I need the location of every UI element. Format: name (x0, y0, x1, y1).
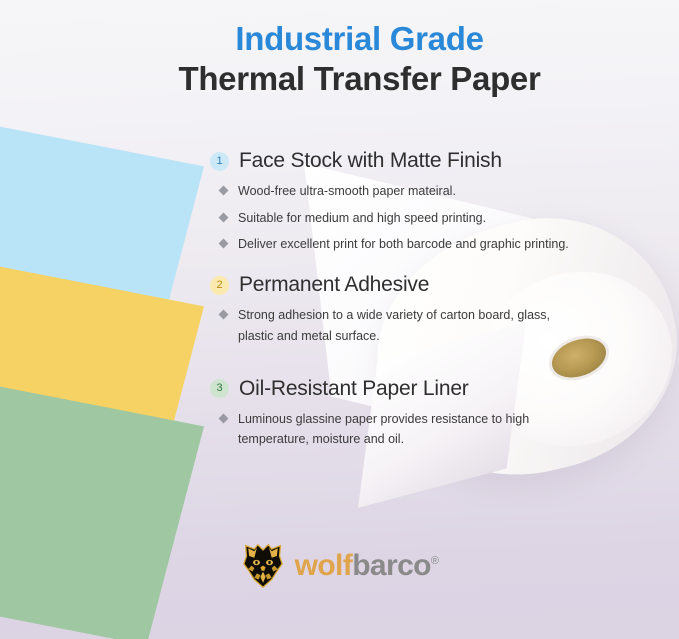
feature-section-1-head: 1 Face Stock with Matte Finish (210, 148, 610, 174)
headline-line-1: Industrial Grade (40, 20, 679, 59)
feature-bullets-1: Wood-free ultra-smooth paper mateiral. S… (210, 181, 610, 254)
feature-section-1: 1 Face Stock with Matte Finish Wood-free… (210, 148, 610, 254)
registered-trademark-symbol: ® (431, 555, 439, 567)
diamond-bullet-icon (219, 310, 229, 320)
brand-name-part-2: barco (352, 549, 431, 582)
bullet-text: Strong adhesion to a wide variety of car… (238, 305, 573, 346)
bullet-text: Luminous glassine paper provides resista… (238, 409, 573, 450)
feature-bullets-2: Strong adhesion to a wide variety of car… (210, 305, 610, 346)
list-item: Suitable for medium and high speed print… (210, 208, 610, 228)
list-item: Wood-free ultra-smooth paper mateiral. (210, 181, 610, 201)
list-item: Deliver excellent print for both barcode… (210, 234, 610, 254)
list-item: Strong adhesion to a wide variety of car… (210, 305, 610, 346)
diamond-bullet-icon (219, 238, 229, 248)
brand-wordmark: wolfbarco® (295, 551, 439, 581)
product-infographic: Industrial Grade Thermal Transfer Paper … (0, 0, 679, 639)
feature-section-3-head: 3 Oil-Resistant Paper Liner (210, 376, 610, 402)
feature-bullets-3: Luminous glassine paper provides resista… (210, 409, 610, 450)
wolf-head-icon (241, 543, 285, 589)
brand-name-part-1: wolf (295, 549, 353, 582)
feature-section-2: 2 Permanent Adhesive Strong adhesion to … (210, 272, 610, 346)
feature-number-badge-1: 1 (210, 152, 229, 171)
feature-title-2: Permanent Adhesive (239, 272, 429, 298)
feature-section-2-head: 2 Permanent Adhesive (210, 272, 610, 298)
feature-sections: 1 Face Stock with Matte Finish Wood-free… (210, 148, 610, 460)
feature-title-1: Face Stock with Matte Finish (239, 148, 502, 174)
feature-number-badge-3: 3 (210, 379, 229, 398)
diamond-bullet-icon (219, 186, 229, 196)
diamond-bullet-icon (219, 212, 229, 222)
diamond-bullet-icon (219, 414, 229, 424)
bullet-text: Wood-free ultra-smooth paper mateiral. (238, 181, 456, 201)
bullet-text: Suitable for medium and high speed print… (238, 208, 486, 228)
page-title: Industrial Grade Thermal Transfer Paper (0, 20, 679, 99)
feature-title-3: Oil-Resistant Paper Liner (239, 376, 469, 402)
feature-number-badge-2: 2 (210, 276, 229, 295)
brand-logo: wolfbarco® (0, 543, 679, 589)
headline-line-2: Thermal Transfer Paper (40, 59, 679, 99)
feature-section-3: 3 Oil-Resistant Paper Liner Luminous gla… (210, 376, 610, 450)
list-item: Luminous glassine paper provides resista… (210, 409, 610, 450)
bullet-text: Deliver excellent print for both barcode… (238, 234, 569, 254)
